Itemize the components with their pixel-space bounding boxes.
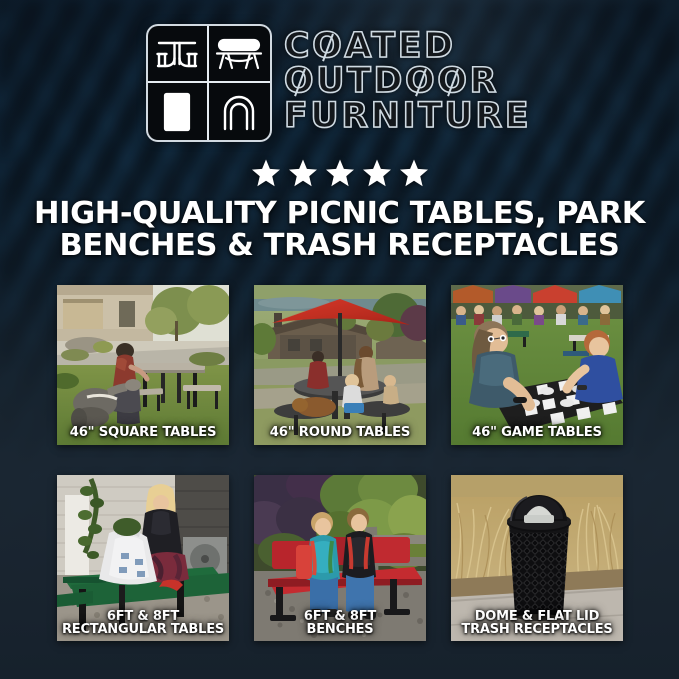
wordmark-line-3: FURNITURE: [284, 100, 531, 134]
tile-caption: DOME & FLAT LID TRASH RECEPTACLES: [451, 610, 623, 637]
tile-caption: 6FT & 8FT RECTANGULAR TABLES: [57, 610, 229, 637]
star-icon: [251, 158, 281, 188]
headline-line-1: HIGH-QUALITY PICNIC TABLES, PARK: [26, 198, 653, 230]
star-icon: [362, 158, 392, 188]
game-table-photo: [451, 285, 623, 445]
promo-poster: COATED OUTDOOR FURNITURE HIGH-QUALITY PI…: [0, 0, 679, 679]
headline: HIGH-QUALITY PICNIC TABLES, PARK BENCHES…: [0, 198, 679, 263]
brand-wordmark: COATED OUTDOOR FURNITURE: [284, 30, 531, 136]
star-icon: [399, 158, 429, 188]
star-icon: [288, 158, 318, 188]
wordmark-line-1: COATED: [284, 30, 531, 64]
trash-receptacle-icon: [148, 83, 209, 140]
gallery-tile[interactable]: 46" ROUND TABLES: [254, 285, 426, 445]
tile-caption-line-1: 46" ROUND TABLES: [257, 426, 423, 440]
tile-caption: 46" ROUND TABLES: [254, 426, 426, 440]
tile-caption-line-2: TRASH RECEPTACLES: [454, 623, 620, 637]
star-rating: [0, 158, 679, 188]
tile-caption: 46" SQUARE TABLES: [57, 426, 229, 440]
gallery-tile[interactable]: 46" SQUARE TABLES: [57, 285, 229, 445]
square-table-photo: [57, 285, 229, 445]
tile-caption: 6FT & 8FT BENCHES: [254, 610, 426, 637]
tile-caption-line-1: 46" SQUARE TABLES: [60, 426, 226, 440]
wordmark-line-2: OUTDOOR: [284, 65, 531, 99]
bike-rack-arch-icon: [209, 83, 270, 140]
headline-line-2: BENCHES & TRASH RECEPTACLES: [26, 230, 653, 262]
star-icon: [325, 158, 355, 188]
gallery-tile[interactable]: DOME & FLAT LID TRASH RECEPTACLES: [451, 475, 623, 641]
logo-mark: [148, 26, 270, 140]
product-gallery-grid: 46" SQUARE TABLES: [57, 285, 623, 641]
gallery-tile[interactable]: 6FT & 8FT RECTANGULAR TABLES: [57, 475, 229, 641]
tile-caption-line-1: 46" GAME TABLES: [454, 426, 620, 440]
tile-caption-line-2: RECTANGULAR TABLES: [60, 623, 226, 637]
brand-logo-lockup: COATED OUTDOOR FURNITURE: [0, 26, 679, 140]
tile-caption-line-2: BENCHES: [257, 623, 423, 637]
gallery-tile[interactable]: 46" GAME TABLES: [451, 285, 623, 445]
gallery-tile[interactable]: 6FT & 8FT BENCHES: [254, 475, 426, 641]
park-bench-icon: [209, 26, 270, 83]
tile-caption: 46" GAME TABLES: [451, 426, 623, 440]
picnic-table-icon: [148, 26, 209, 83]
round-table-photo: [254, 285, 426, 445]
